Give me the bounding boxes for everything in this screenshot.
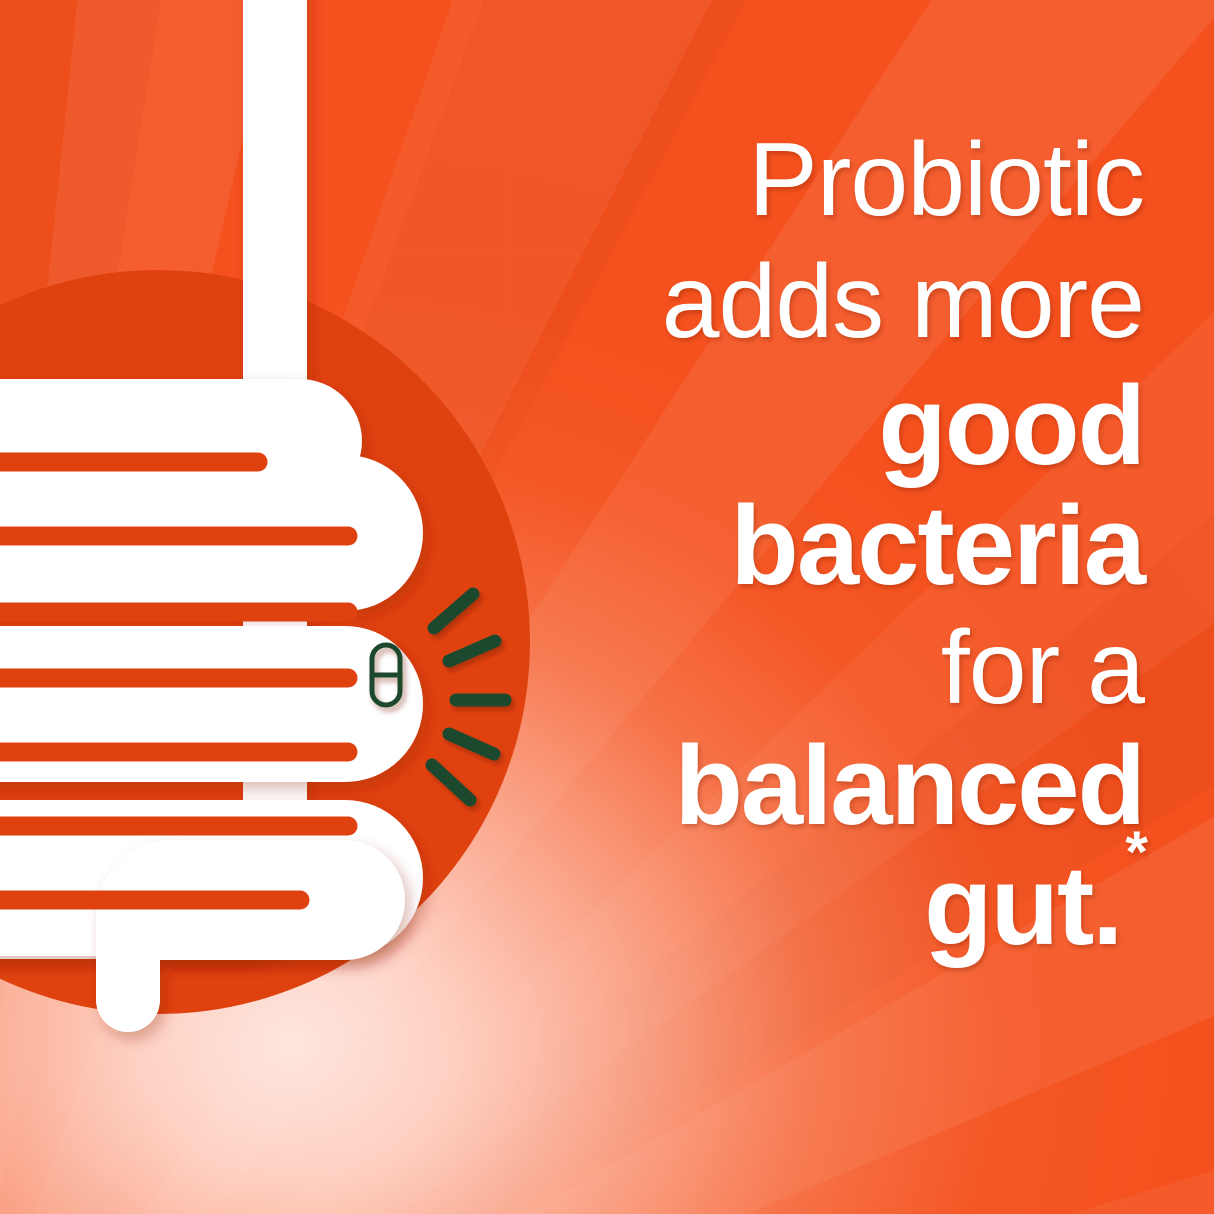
- headline-line-7-text: gut.: [924, 843, 1121, 968]
- probiotic-gut-graphic: Probiotic adds more good bacteria for a …: [0, 0, 1214, 1214]
- headline-line-5: for a: [470, 616, 1144, 720]
- footnote-asterisk: *: [1125, 820, 1148, 885]
- tract-outlet: [96, 840, 405, 1032]
- headline-line-2: adds more: [470, 250, 1144, 354]
- headline-line-4: bacteria: [470, 490, 1144, 602]
- headline-block: Probiotic adds more good bacteria for a …: [470, 128, 1144, 962]
- headline-line-1: Probiotic: [470, 128, 1144, 232]
- headline-line-3: good: [470, 370, 1144, 482]
- headline-line-7: gut.*: [470, 850, 1144, 962]
- headline-line-6: balanced: [470, 730, 1144, 842]
